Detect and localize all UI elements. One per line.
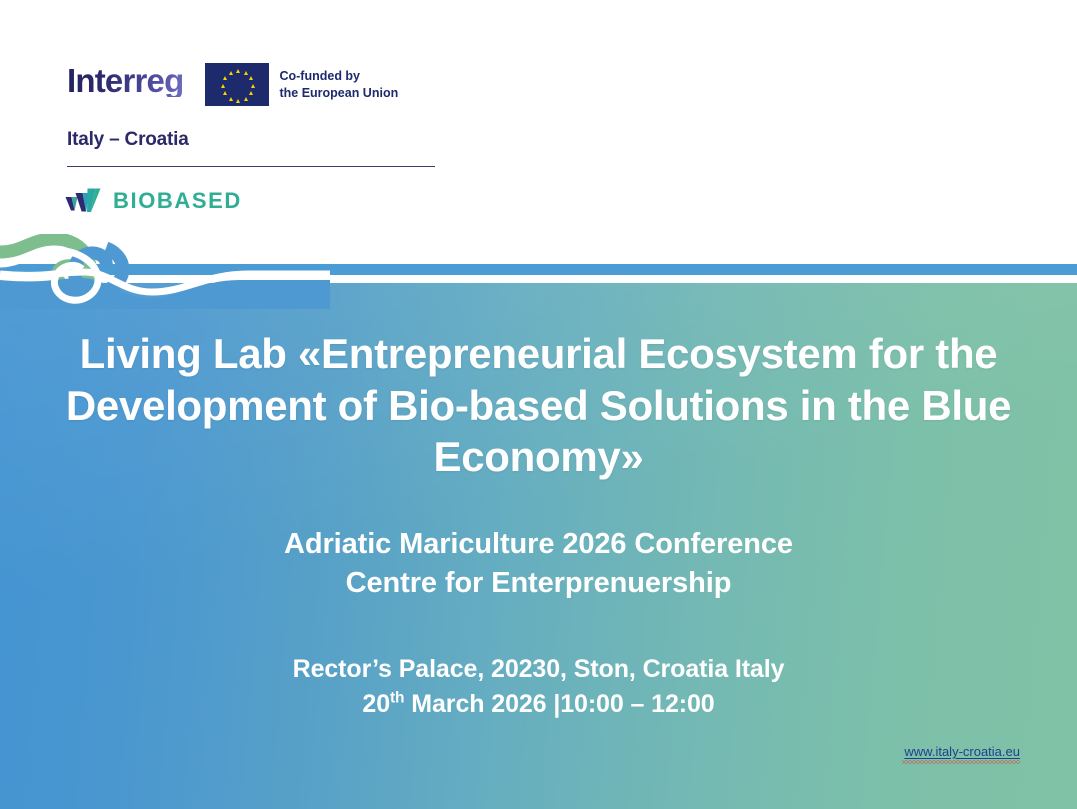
hero-text-stack: Living Lab «Entrepreneurial Ecosystem fo… bbox=[0, 283, 1077, 723]
page-title: Living Lab «Entrepreneurial Ecosystem fo… bbox=[38, 328, 1039, 483]
event-datetime: 20th March 2026 |10:00 – 12:00 bbox=[0, 687, 1077, 723]
biobased-mark-icon bbox=[64, 186, 102, 216]
programme-name: Italy – Croatia bbox=[67, 129, 487, 151]
eu-funding-text: Co-funded by the European Union bbox=[279, 68, 398, 101]
project-logo: BIOBASED bbox=[64, 186, 242, 216]
event-subtitle: Adriatic Mariculture 2026 Conference Cen… bbox=[0, 525, 1077, 604]
event-date-rest: March 2026 |10:00 – 12:00 bbox=[404, 690, 714, 718]
eu-funding-line2: the European Union bbox=[279, 85, 398, 102]
eu-funding-line1: Co-funded by bbox=[279, 68, 398, 85]
website-link[interactable]: www.italy-croatia.eu bbox=[904, 744, 1020, 759]
spellcheck-underline bbox=[902, 760, 1020, 764]
event-venue: Rector’s Palace, 20230, Ston, Croatia It… bbox=[0, 652, 1077, 688]
eu-emblem: Co-funded by the European Union bbox=[205, 60, 398, 106]
event-subtitle-line2: Centre for Enterprenuership bbox=[0, 564, 1077, 603]
interreg-wordmark: Interreg bbox=[67, 60, 183, 97]
event-subtitle-line1: Adriatic Mariculture 2026 Conference bbox=[0, 525, 1077, 564]
hero-panel: Living Lab «Entrepreneurial Ecosystem fo… bbox=[0, 283, 1077, 809]
eu-flag-icon bbox=[205, 63, 269, 106]
event-date-ordinal: th bbox=[390, 690, 404, 707]
event-details: Rector’s Palace, 20230, Ston, Croatia It… bbox=[0, 652, 1077, 723]
interreg-eu-row: Interreg Co-funded by bbox=[67, 60, 487, 106]
accent-rule bbox=[0, 264, 1077, 275]
event-date-day: 20 bbox=[362, 690, 390, 718]
header-divider bbox=[67, 166, 435, 167]
slide-canvas: Interreg Co-funded by bbox=[0, 0, 1077, 809]
biobased-label: BIOBASED bbox=[113, 188, 242, 214]
header-logo-block: Interreg Co-funded by bbox=[67, 60, 487, 167]
